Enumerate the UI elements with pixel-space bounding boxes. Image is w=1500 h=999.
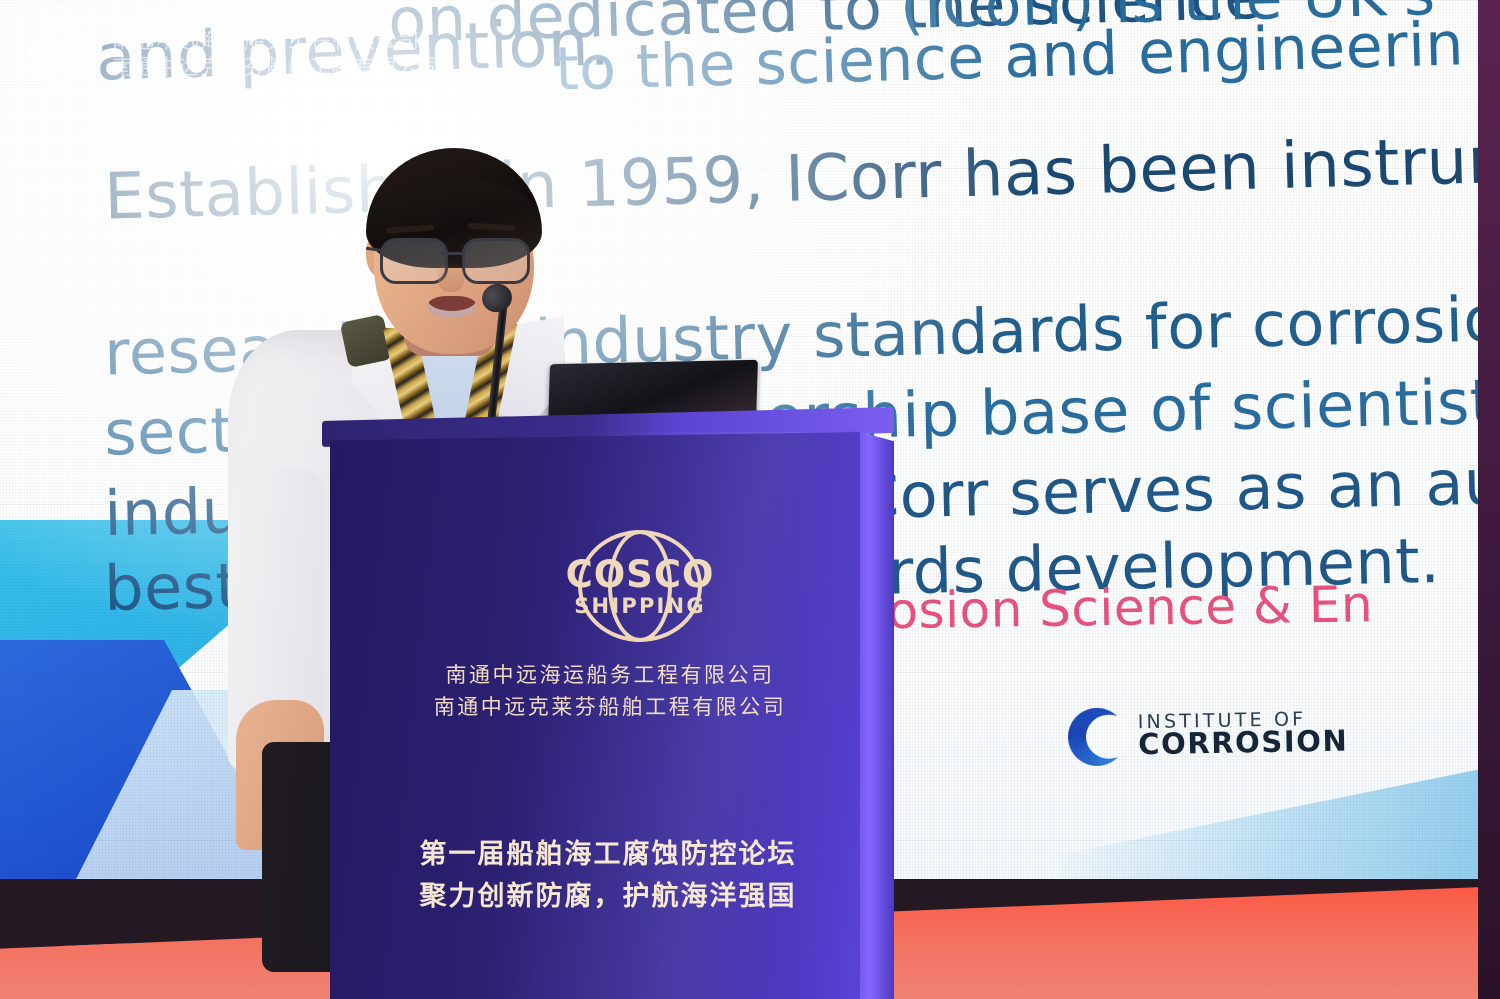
cosco-brand-main: COSCO xyxy=(542,556,738,593)
lectern: COSCO SHIPPING 南通中远海运船务工程有限公司 南通中远克莱芬船舶工… xyxy=(322,414,894,999)
company-name-line-2: 南通中远克莱芬船舶工程有限公司 xyxy=(330,692,890,724)
icorr-crescent-icon xyxy=(1068,707,1127,766)
lectern-event-title: 第一届船舶海工腐蚀防控论坛 聚力创新防腐，护航海洋强国 xyxy=(330,834,886,918)
event-title-line-1: 第一届船舶海工腐蚀防控论坛 xyxy=(330,834,886,876)
cosco-logo-wordmark: COSCO SHIPPING xyxy=(542,556,738,617)
icorr-logo-line-2: CORROSION xyxy=(1138,728,1349,759)
institute-of-corrosion-logo: INSTITUTE OF CORROSION xyxy=(1068,704,1349,767)
company-name-line-1: 南通中远海运船务工程有限公司 xyxy=(330,660,890,692)
cosco-shipping-logo: COSCO SHIPPING xyxy=(542,530,738,646)
cosco-brand-sub: SHIPPING xyxy=(542,596,738,617)
lectern-company-names: 南通中远海运船务工程有限公司 南通中远克莱芬船舶工程有限公司 xyxy=(330,660,890,723)
conference-photo-scene: on dedicated to the science (ICorr) is t… xyxy=(0,0,1500,999)
slide-text-line-5: Established in 1959, ICorr has been inst… xyxy=(103,115,1500,234)
slide-text-line-3: and prevention. xyxy=(95,6,611,95)
event-title-line-2: 聚力创新防腐，护航海洋强国 xyxy=(330,876,886,918)
side-wall xyxy=(1478,0,1500,999)
lectern-front-panel: COSCO SHIPPING 南通中远海运船务工程有限公司 南通中远克莱芬船舶工… xyxy=(330,432,860,999)
icorr-logo-text: INSTITUTE OF CORROSION xyxy=(1138,710,1349,760)
